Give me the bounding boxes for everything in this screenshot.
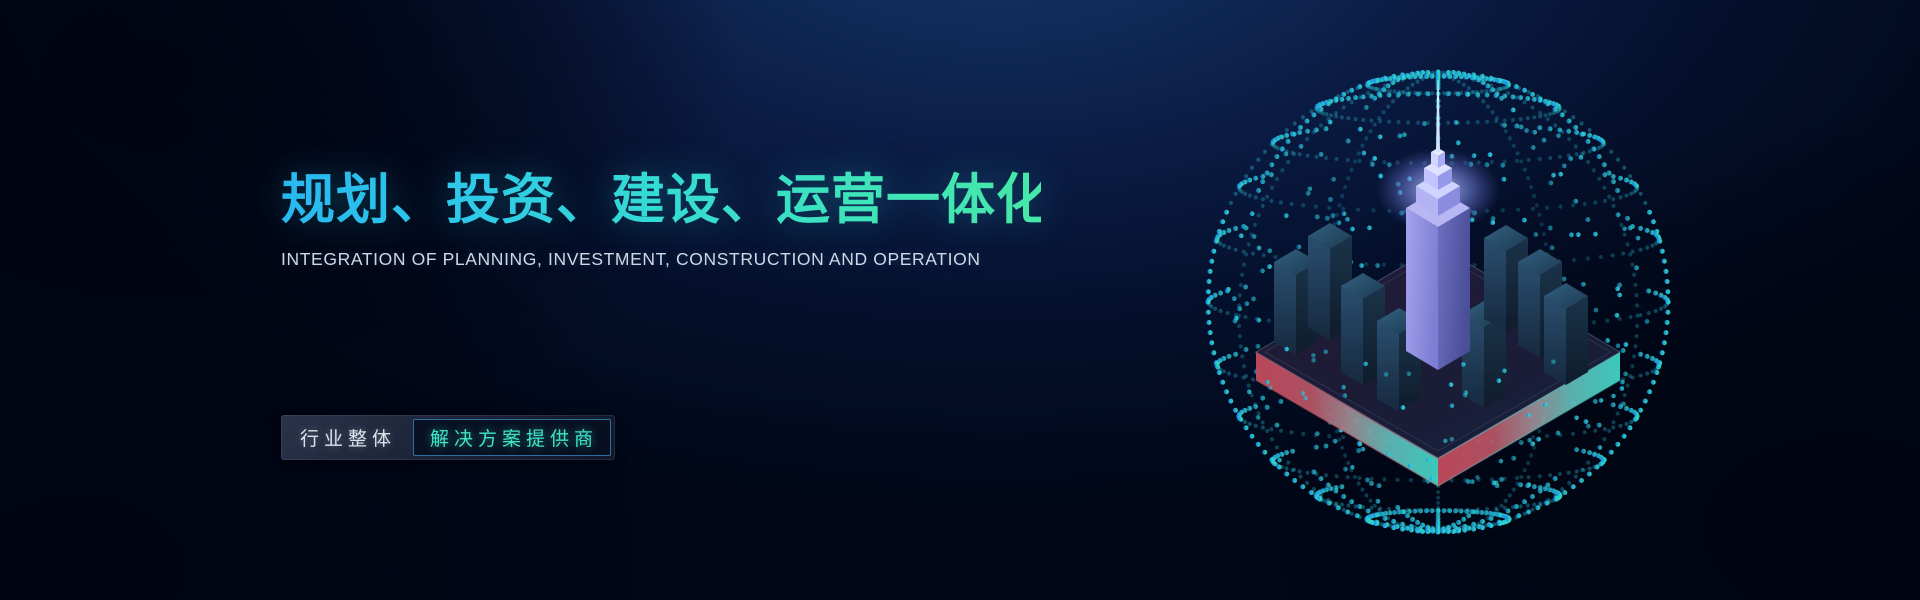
page-title: 规划、投资、建设、运营一体化 — [281, 170, 1041, 230]
globe-city-illustration — [1178, 40, 1698, 560]
page-subtitle: INTEGRATION OF PLANNING, INVESTMENT, CON… — [281, 249, 1041, 270]
hero-banner: 规划、投资、建设、运营一体化 INTEGRATION OF PLANNING, … — [0, 0, 1920, 600]
badge-left-label: 行业整体 — [285, 419, 413, 456]
banner-copy: 规划、投资、建设、运营一体化 INTEGRATION OF PLANNING, … — [281, 170, 1041, 270]
badge-right-label: 解决方案提供商 — [413, 419, 611, 456]
tagline-badge[interactable]: 行业整体 解决方案提供商 — [281, 415, 615, 460]
tagline-badge-wrap: 行业整体 解决方案提供商 — [281, 415, 615, 460]
